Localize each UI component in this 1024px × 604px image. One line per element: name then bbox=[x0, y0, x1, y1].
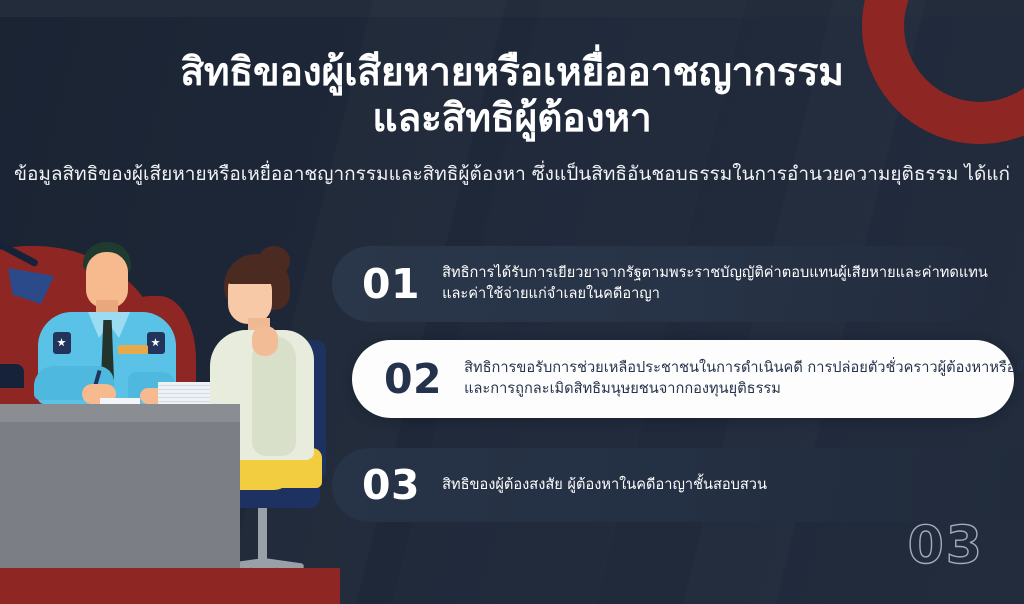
list-item-text-line: และการถูกละเมิดสิทธิมนุษยชนจากกองทุนยุติ… bbox=[464, 379, 1024, 400]
list-item-text-line: สิทธิของผู้ต้องสงสัย ผู้ต้องหาในคดีอาญาช… bbox=[442, 475, 998, 496]
header: สิทธิของผู้เสียหายหรือเหยื่ออาชญากรรม แล… bbox=[0, 50, 1024, 187]
desk-icon bbox=[0, 404, 240, 422]
list-item-text-line: และค่าใช้จ่ายแก่จำเลยในคดีอาญา bbox=[442, 284, 988, 305]
desk-icon bbox=[0, 422, 240, 570]
illustration bbox=[0, 232, 340, 604]
seated-woman-figure bbox=[252, 326, 278, 356]
desk-lamp-icon bbox=[0, 364, 24, 388]
list-item-number: 03 bbox=[362, 465, 420, 506]
list-item-number: 01 bbox=[362, 264, 420, 305]
office-chair-icon bbox=[258, 506, 267, 572]
stacked-documents-icon bbox=[158, 382, 212, 404]
list-item-02[interactable]: 02 สิทธิการขอรับการช่วยเหลือประชาชนในการ… bbox=[352, 340, 1014, 418]
list-item-text: สิทธิการขอรับการช่วยเหลือประชาชนในการดำเ… bbox=[464, 358, 1024, 399]
page-title: สิทธิของผู้เสียหายหรือเหยื่ออาชญากรรม แล… bbox=[0, 50, 1024, 142]
title-line-2: และสิทธิผู้ต้องหา bbox=[0, 96, 1024, 142]
seated-woman-figure bbox=[226, 268, 282, 284]
list-item-text-line: สิทธิการได้รับการเยียวยาจากรัฐตามพระราชบ… bbox=[442, 263, 988, 284]
page-subtitle: ข้อมูลสิทธิของผู้เสียหายหรือเหยื่ออาชญาก… bbox=[0, 162, 1024, 187]
title-line-1: สิทธิของผู้เสียหายหรือเหยื่ออาชญากรรม bbox=[0, 50, 1024, 96]
list-item-number: 02 bbox=[384, 359, 442, 400]
list-item-text-line: สิทธิการขอรับการช่วยเหลือประชาชนในการดำเ… bbox=[464, 358, 1024, 379]
floor-band bbox=[0, 568, 340, 604]
list-item-text: สิทธิของผู้ต้องสงสัย ผู้ต้องหาในคดีอาญาช… bbox=[442, 475, 998, 496]
list-item-03[interactable]: 03 สิทธิของผู้ต้องสงสัย ผู้ต้องหาในคดีอา… bbox=[332, 448, 1024, 522]
list-item-01[interactable]: 01 สิทธิการได้รับการเยียวยาจากรัฐตามพระร… bbox=[332, 246, 986, 322]
page-number: 03 bbox=[908, 520, 984, 572]
name-tag-icon bbox=[118, 345, 148, 354]
list-item-text: สิทธิการได้รับการเยียวยาจากรัฐตามพระราชบ… bbox=[442, 263, 988, 304]
infographic-slide: สิทธิของผู้เสียหายหรือเหยื่ออาชญากรรม แล… bbox=[0, 0, 1024, 604]
